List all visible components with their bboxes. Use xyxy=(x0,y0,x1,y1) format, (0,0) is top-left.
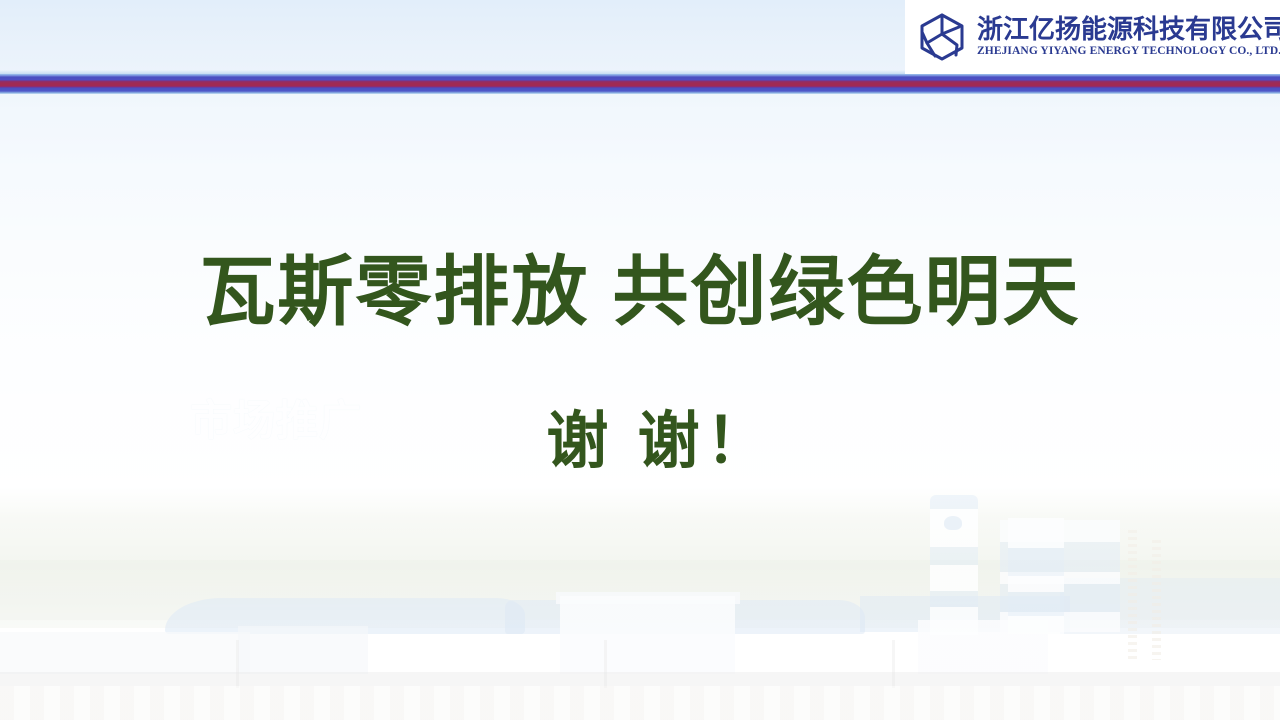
background-photo xyxy=(0,0,1280,720)
perimeter-road xyxy=(0,672,1280,686)
thank-you-text: 谢 谢！ xyxy=(0,408,1280,476)
company-logo-plate: 浙江亿扬能源科技有限公司 ZHEJIANG YIYANG ENERGY TECH… xyxy=(905,0,1280,74)
header-stripe xyxy=(0,74,1280,94)
chimney-logo-icon xyxy=(944,516,962,530)
lattice-mast-a xyxy=(1128,530,1137,660)
shed-left-secondary xyxy=(238,626,368,674)
lattice-mast-b xyxy=(1152,540,1161,660)
slide-root: 浙江亿扬能源科技有限公司 ZHEJIANG YIYANG ENERGY TECH… xyxy=(0,0,1280,720)
shed-left xyxy=(0,632,250,674)
plant-stair-tower xyxy=(1008,518,1064,634)
logo-text-block: 浙江亿扬能源科技有限公司 ZHEJIANG YIYANG ENERGY TECH… xyxy=(977,15,1280,58)
hexagon-crystal-logo-icon xyxy=(917,12,967,62)
slide-headline: 瓦斯零排放 共创绿色明天 xyxy=(0,252,1280,334)
company-name-cn: 浙江亿扬能源科技有限公司 xyxy=(977,15,1280,43)
foreground-yard xyxy=(0,686,1280,720)
company-name-en: ZHEJIANG YIYANG ENERGY TECHNOLOGY CO., L… xyxy=(977,44,1280,59)
office-building-center xyxy=(560,596,735,674)
